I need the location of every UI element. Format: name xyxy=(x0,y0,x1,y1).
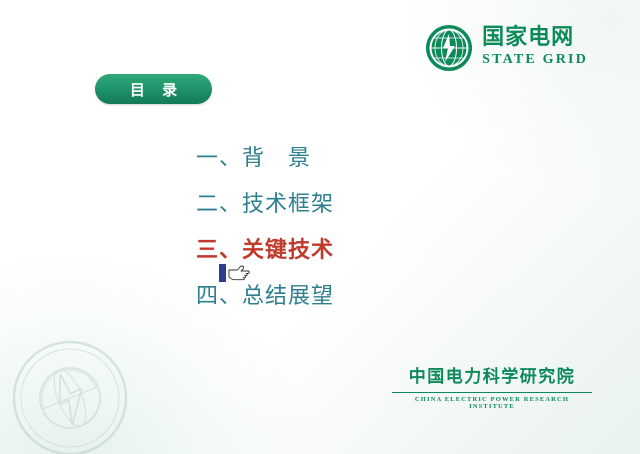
institute-divider xyxy=(392,392,592,393)
institute-name-en: CHINA ELECTRIC POWER RESEARCH INSTITUTE xyxy=(392,396,592,410)
brand-wordmark: 国家电网 STATE GRID xyxy=(482,27,588,69)
toc-item-1-label: 一、背 景 xyxy=(196,140,311,172)
institute-name-cn: 中国电力科学研究院 xyxy=(392,367,592,388)
brand-name-cn: 国家电网 xyxy=(482,27,588,49)
toc-item-2[interactable]: 二、技术框架 xyxy=(196,179,334,225)
toc-item-3-label: 三、关键技术 xyxy=(196,232,334,264)
toc-item-4-label: 四、总结展望 xyxy=(196,278,334,310)
state-grid-globe-icon xyxy=(425,24,473,72)
toc-item-1[interactable]: 一、背 景 xyxy=(196,133,334,179)
pointing-hand-icon xyxy=(150,236,184,260)
brand-logo: 国家电网 STATE GRID xyxy=(425,24,588,72)
circular-seal-watermark-icon xyxy=(8,336,132,454)
slide-canvas: 国家电网 STATE GRID 目 录 一、背 景 二、技术框架 三、关键技术 xyxy=(0,0,640,454)
toc-item-2-label: 二、技术框架 xyxy=(196,186,334,218)
toc-item-4[interactable]: 四、总结展望 xyxy=(196,271,334,317)
toc-title-label: 目 录 xyxy=(124,79,183,100)
brand-name-en: STATE GRID xyxy=(482,53,588,67)
institute-footer: 中国电力科学研究院 CHINA ELECTRIC POWER RESEARCH … xyxy=(392,367,592,410)
toc-list: 一、背 景 二、技术框架 三、关键技术 四、总结展望 xyxy=(196,133,334,317)
toc-title-pill: 目 录 xyxy=(95,74,212,104)
toc-item-3[interactable]: 三、关键技术 xyxy=(196,225,334,271)
